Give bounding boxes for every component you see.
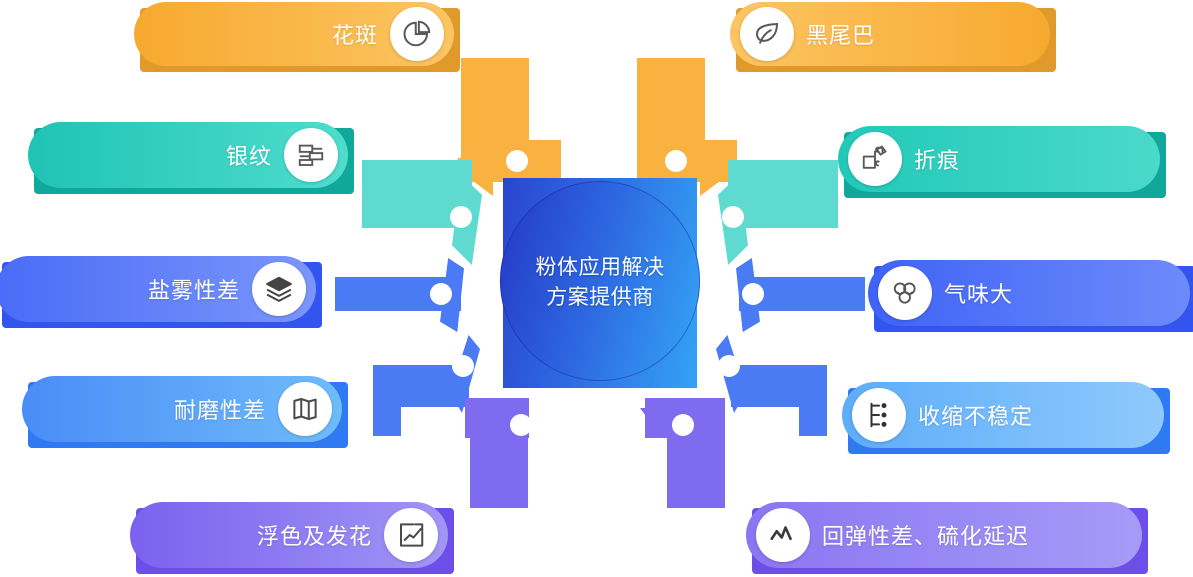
- center-label-line1: 粉体应用解决: [503, 253, 697, 283]
- pill-right-4[interactable]: 收缩不稳定: [842, 382, 1164, 448]
- pill-body: 浮色及发花: [130, 502, 448, 568]
- pill-right-2[interactable]: 折痕: [838, 126, 1160, 192]
- pill-right-1[interactable]: 黑尾巴: [730, 2, 1050, 66]
- connector-dot: [510, 414, 532, 436]
- pill-body: 回弹性差、硫化延迟: [746, 502, 1142, 568]
- pill-label: 银纹: [226, 139, 272, 171]
- pill-label: 浮色及发花: [257, 519, 372, 551]
- connector-dot: [665, 150, 687, 172]
- connector-dot: [506, 150, 528, 172]
- connector-left-4b: [373, 388, 401, 436]
- pill-label: 黑尾巴: [806, 18, 875, 50]
- center-node[interactable]: 粉体应用解决 方案提供商: [503, 178, 697, 388]
- center-label-line2: 方案提供商: [503, 283, 697, 313]
- brick-wall-icon: [284, 128, 338, 182]
- puzzle-icon: [848, 132, 902, 186]
- trend-box-icon: [384, 508, 438, 562]
- pill-left-1[interactable]: 花斑: [134, 2, 454, 66]
- pill-left-3[interactable]: 盐雾性差: [0, 256, 316, 322]
- pill-label: 折痕: [914, 143, 960, 175]
- pill-body: 折痕: [838, 126, 1160, 192]
- connector-dot: [718, 355, 740, 377]
- pill-body: 气味大: [868, 260, 1190, 326]
- pill-label: 回弹性差、硫化延迟: [822, 519, 1029, 551]
- pill-left-2[interactable]: 银纹: [28, 122, 348, 188]
- pill-label: 花斑: [332, 18, 378, 50]
- pill-body: 黑尾巴: [730, 2, 1050, 66]
- connector-dot: [672, 414, 694, 436]
- connector-dot: [452, 355, 474, 377]
- pill-right-5[interactable]: 回弹性差、硫化延迟: [746, 502, 1142, 568]
- leaf-icon: [740, 7, 794, 61]
- pill-label: 盐雾性差: [148, 273, 240, 305]
- pill-label: 耐磨性差: [174, 393, 266, 425]
- connector-right-4b: [799, 388, 827, 436]
- pill-body: 花斑: [134, 2, 454, 66]
- pill-left-4[interactable]: 耐磨性差: [22, 376, 342, 442]
- pie-chart-icon: [390, 7, 444, 61]
- connector-dot: [722, 206, 744, 228]
- sitemap-icon: [852, 388, 906, 442]
- pill-body: 银纹: [28, 122, 348, 188]
- pill-body: 盐雾性差: [0, 256, 316, 322]
- pill-body: 耐磨性差: [22, 376, 342, 442]
- connector-dot: [450, 206, 472, 228]
- connector-right-2: [728, 160, 838, 228]
- connector-dot: [742, 283, 764, 305]
- center-label: 粉体应用解决 方案提供商: [503, 253, 697, 313]
- connector-right-5b: [667, 398, 725, 508]
- connector-dot: [430, 283, 452, 305]
- line-chart-icon: [756, 508, 810, 562]
- recycle-icon: [878, 266, 932, 320]
- pill-label: 收缩不稳定: [918, 399, 1033, 431]
- layers-icon: [252, 262, 306, 316]
- pill-right-3[interactable]: 气味大: [868, 260, 1190, 326]
- pill-left-5[interactable]: 浮色及发花: [130, 502, 448, 568]
- pill-label: 气味大: [944, 277, 1013, 309]
- infographic-canvas: 粉体应用解决 方案提供商 花斑 银纹: [0, 0, 1193, 577]
- pill-body: 收缩不稳定: [842, 382, 1164, 448]
- map-icon: [278, 382, 332, 436]
